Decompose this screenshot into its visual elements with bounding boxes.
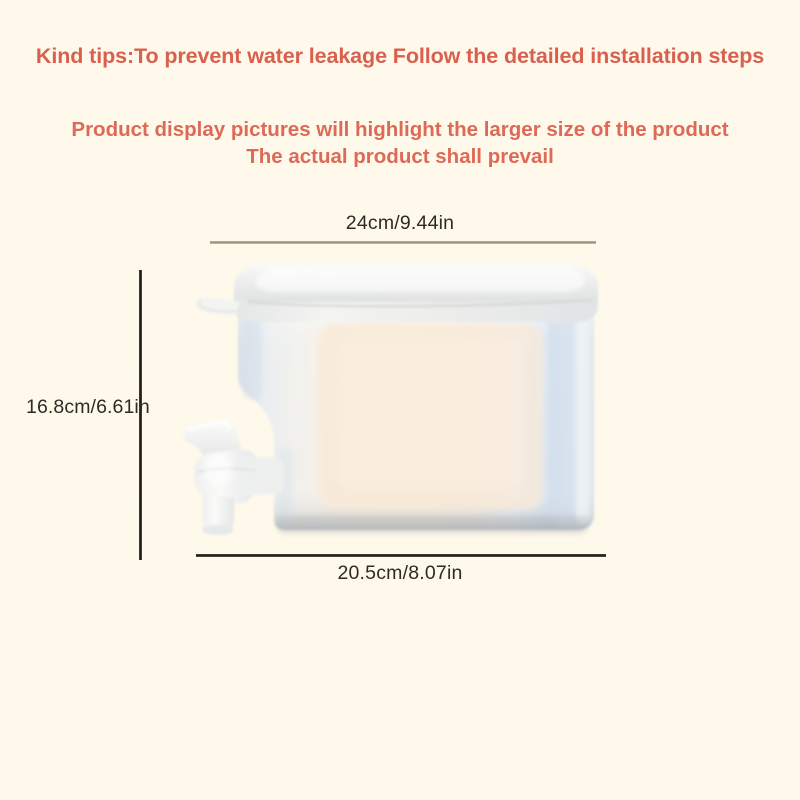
disclaimer-line-1: Product display pictures will highlight … xyxy=(0,116,800,143)
product-display-disclaimer: Product display pictures will highlight … xyxy=(0,116,800,170)
left-dimension-label: 16.8cm/6.61in xyxy=(26,396,150,419)
dispenser-spigot xyxy=(184,419,284,535)
bottom-dimension-label: 20.5cm/8.07in xyxy=(0,562,800,585)
product-photo-beverage-dispenser xyxy=(178,258,608,558)
disclaimer-line-2: The actual product shall prevail xyxy=(0,143,800,170)
top-dimension-label: 24cm/9.44in xyxy=(0,212,800,235)
top-dimension-rule xyxy=(210,241,596,244)
kind-tips-notice: Kind tips:To prevent water leakage Follo… xyxy=(0,44,800,69)
dimension-diagram-canvas: Kind tips:To prevent water leakage Follo… xyxy=(0,0,800,800)
dispenser-lid xyxy=(194,262,598,322)
